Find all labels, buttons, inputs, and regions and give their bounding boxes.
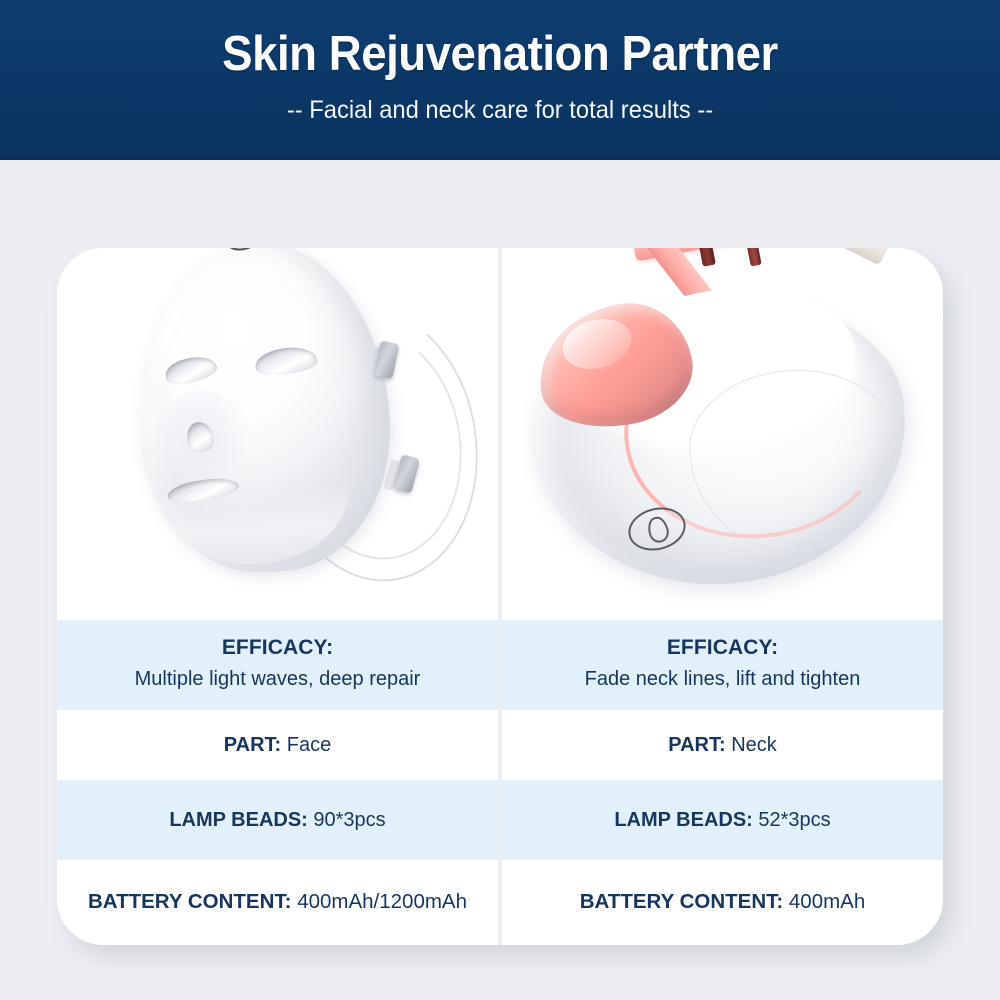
spec-value-battery-neck: 400mAh (789, 890, 865, 913)
spec-cell-battery-face: BATTERY CONTENT: 400mAh/1200mAh (57, 860, 498, 945)
spec-value-battery-face: 400mAh/1200mAh (297, 890, 467, 913)
spec-cell-efficacy-face: EFFICACY: Multiple light waves, deep rep… (57, 620, 498, 710)
spec-cell-part-neck: PART: Neck (502, 710, 943, 780)
comparison-card: EFFICACY: Multiple light waves, deep rep… (57, 248, 943, 945)
spec-value-efficacy-neck: Fade neck lines, lift and tighten (585, 664, 861, 694)
spec-value-part-face: Face (287, 734, 331, 756)
product-image-neck-device (502, 248, 943, 620)
neck-device-strap-buckle (741, 248, 761, 267)
spec-value-part-neck: Neck (731, 734, 777, 756)
spec-label-efficacy: EFFICACY: (667, 636, 778, 660)
spec-value-lamp-beads-face: 90*3pcs (313, 809, 385, 831)
neck-device-illustration (514, 248, 943, 620)
neck-device-strap-buckle (693, 248, 716, 267)
spec-label-battery-content: BATTERY CONTENT: (580, 890, 783, 913)
face-mask-illustration (105, 248, 465, 620)
column-divider (498, 248, 502, 945)
header-banner: Skin Rejuvenation Partner -- Facial and … (0, 0, 1000, 160)
spec-value-efficacy-face: Multiple light waves, deep repair (135, 664, 421, 694)
spec-cell-part-face: PART: Face (57, 710, 498, 780)
spec-cell-battery-neck: BATTERY CONTENT: 400mAh (502, 860, 943, 945)
neck-device-strap-white (811, 248, 892, 266)
spec-cell-efficacy-neck: EFFICACY: Fade neck lines, lift and tigh… (502, 620, 943, 710)
page-subtitle: -- Facial and neck care for total result… (25, 80, 975, 125)
product-image-face-mask (57, 248, 498, 620)
spec-label-part: PART: (224, 734, 281, 756)
spec-label-lamp-beads: LAMP BEADS: (614, 809, 753, 831)
spec-cell-lamp-beads-face: LAMP BEADS: 90*3pcs (57, 780, 498, 860)
spec-label-lamp-beads: LAMP BEADS: (169, 809, 308, 831)
spec-label-battery-content: BATTERY CONTENT: (88, 890, 291, 913)
spec-value-lamp-beads-neck: 52*3pcs (758, 809, 830, 831)
infographic-page: Skin Rejuvenation Partner -- Facial and … (0, 0, 1000, 1000)
spec-label-part: PART: (668, 734, 725, 756)
spec-label-efficacy: EFFICACY: (222, 636, 333, 660)
spec-cell-lamp-beads-neck: LAMP BEADS: 52*3pcs (502, 780, 943, 860)
page-title: Skin Rejuvenation Partner (35, 0, 965, 80)
